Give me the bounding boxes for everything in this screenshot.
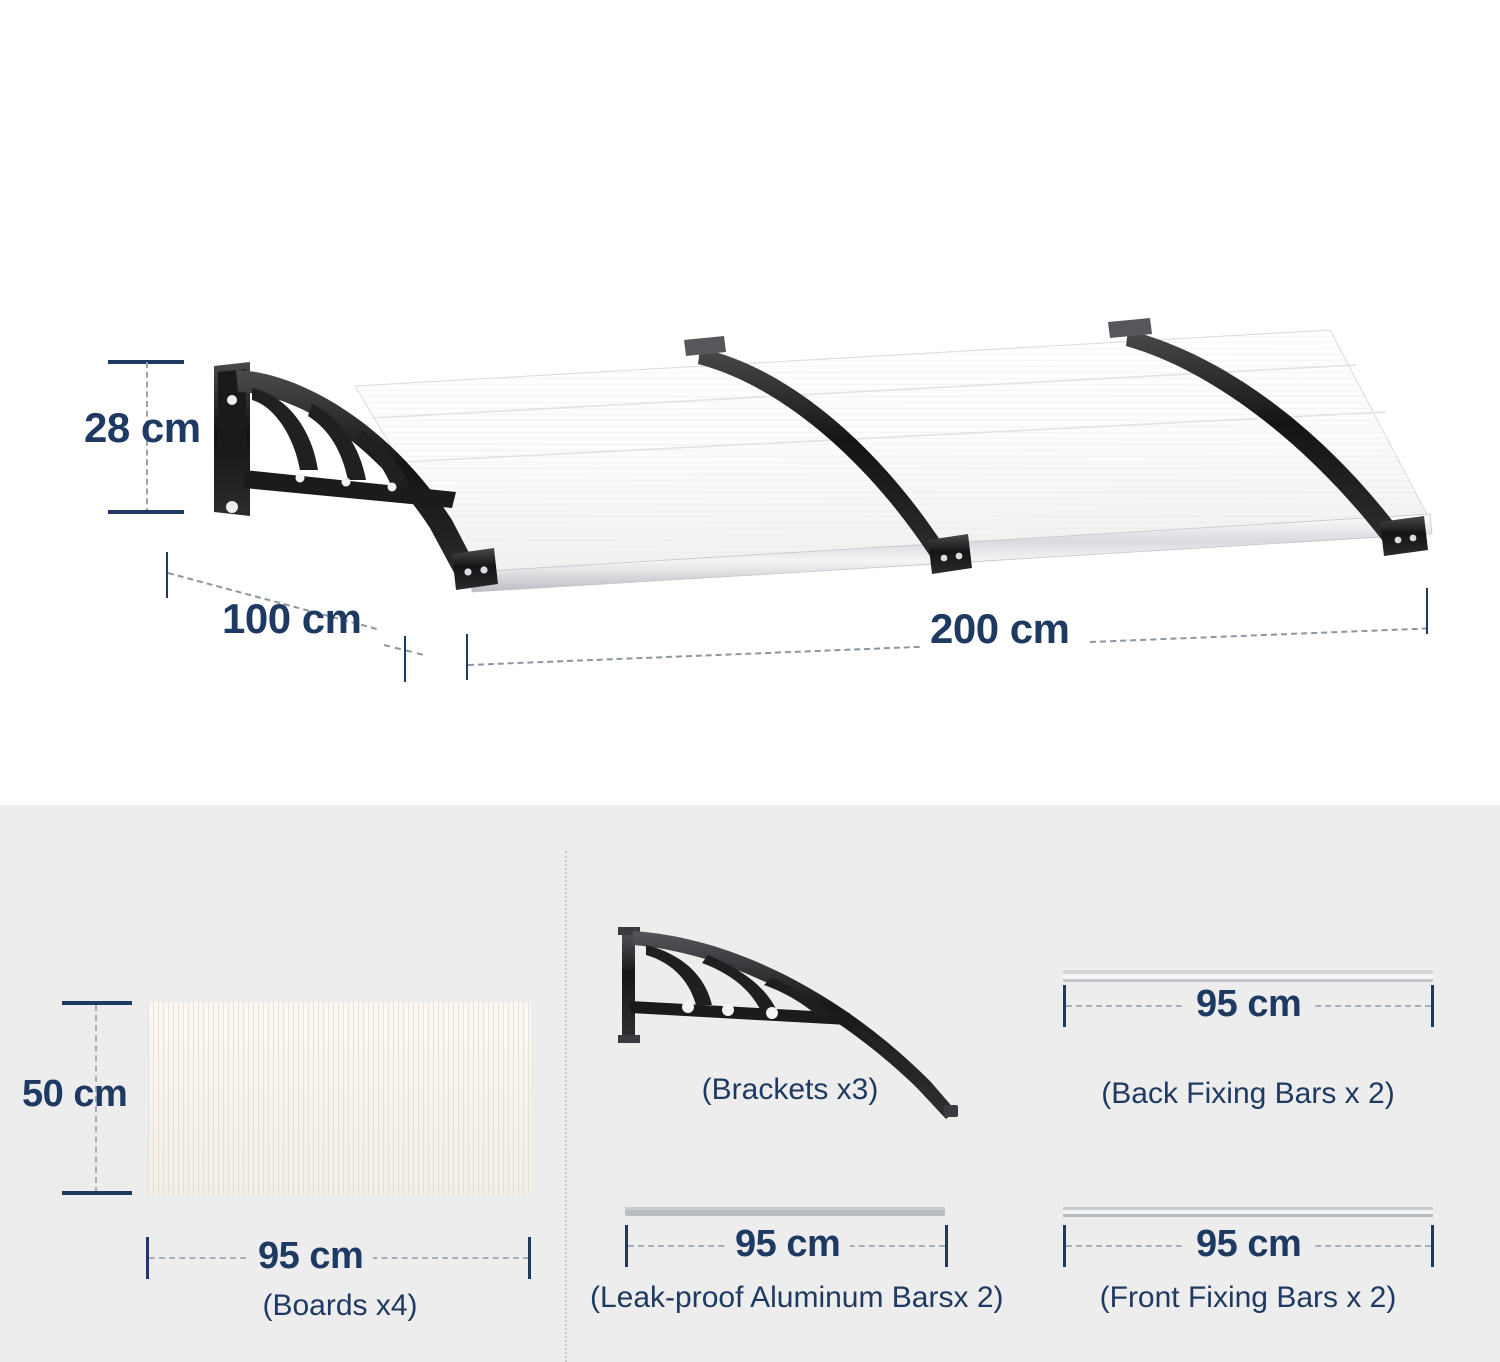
dim-28-cap-bottom [108, 510, 184, 514]
aluminum-bar-illustration [625, 1205, 945, 1219]
section-divider [565, 851, 567, 1362]
dim-100-tick-right [404, 636, 406, 682]
hero-section: 28 cm 100 cm 200 cm [0, 0, 1500, 805]
boards-height-label: 50 cm [22, 1073, 127, 1116]
dim-200-tick-right [1426, 588, 1428, 634]
aluminum-bars-width-label: 95 cm [725, 1223, 850, 1266]
front-bars-caption: (Front Fixing Bars x 2) [1065, 1281, 1431, 1315]
board-sheet [148, 1002, 531, 1195]
boards-width-tick-right [528, 1237, 531, 1279]
brackets-caption: (Brackets x3) [600, 1073, 980, 1107]
specification-page: Specification [0, 0, 1500, 1362]
boards-height-cap-bottom [62, 1191, 132, 1195]
dim-100-tick-left [166, 552, 168, 598]
aluminum-bars-tick-right [945, 1225, 948, 1267]
back-bars-caption: (Back Fixing Bars x 2) [1065, 1077, 1431, 1111]
dim-depth-label: 100 cm [222, 595, 361, 643]
front-fixing-bar-illustration [1063, 1205, 1433, 1221]
canopy-illustration [0, 0, 1500, 805]
parts-section: 50 cm 95 cm (Boards x4) [0, 805, 1500, 1362]
boards-caption: (Boards x4) [250, 1289, 430, 1323]
front-bars-tick-right [1431, 1225, 1434, 1267]
dim-200-tick-left [466, 634, 468, 680]
boards-width-label: 95 cm [248, 1235, 373, 1278]
boards-height-cap-top [62, 1001, 132, 1005]
aluminum-bars-caption: (Leak-proof Aluminum Barsx 2) [590, 1281, 980, 1315]
dim-height-label: 28 cm [84, 404, 201, 452]
front-bars-width-label: 95 cm [1186, 1223, 1311, 1266]
dim-width-label: 200 cm [930, 605, 1069, 653]
back-bars-tick-right [1431, 985, 1434, 1027]
back-bars-width-label: 95 cm [1186, 983, 1311, 1026]
